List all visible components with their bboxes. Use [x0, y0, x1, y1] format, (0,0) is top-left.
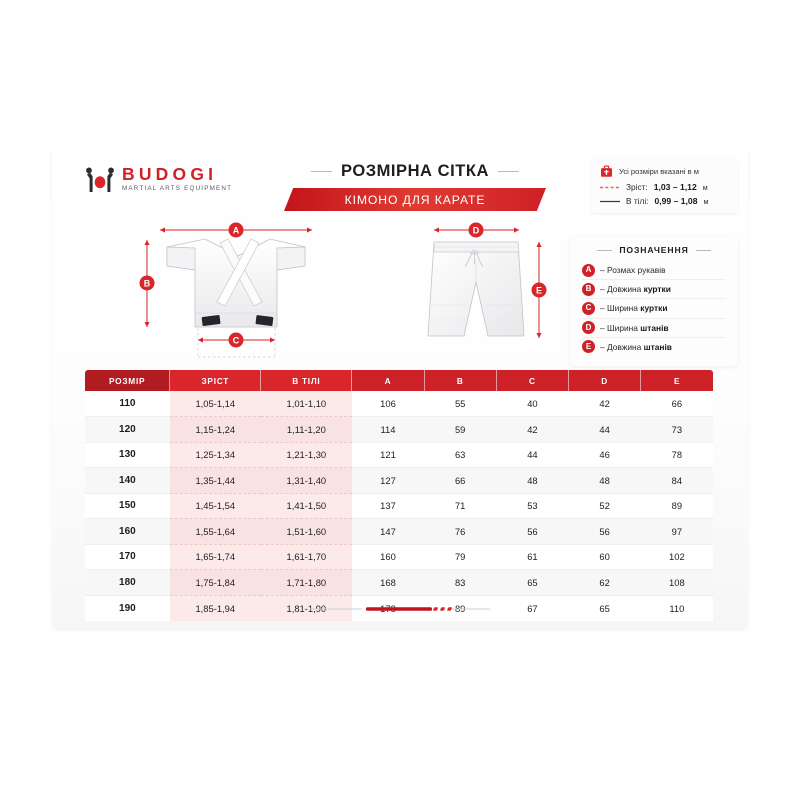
table-row[interactable]: 1501,45-1,541,41-1,5013771535289: [85, 493, 713, 519]
cell-c: 40: [496, 391, 568, 417]
legend-badge-c: C: [582, 302, 595, 315]
cell-в-тілі: 1,71-1,80: [261, 570, 352, 596]
size-table-wrapper: РОЗМІРЗРІСТВ ТІЛІABCDE 1101,05-1,141,01-…: [85, 370, 713, 621]
cell-c: 67: [496, 595, 568, 621]
cell-розмір: 190: [85, 595, 170, 621]
info-label-body: В тілі:: [626, 196, 648, 206]
marker-C-label: C: [233, 335, 240, 345]
info-value-height: 1,03 – 1,12: [654, 182, 697, 192]
cell-зріст: 1,25-1,34: [170, 442, 261, 468]
legend-label-b: – Довжина куртки: [600, 284, 671, 294]
table-row[interactable]: 1801,75-1,841,71-1,80168836562108: [85, 570, 713, 596]
cell-e: 89: [641, 493, 713, 519]
cell-розмір: 130: [85, 442, 170, 468]
cell-d: 65: [569, 595, 641, 621]
karate-jacket-diagram: A B C: [120, 220, 350, 360]
dashed-line-icon: [600, 184, 620, 191]
cell-c: 61: [496, 544, 568, 570]
cell-e: 78: [641, 442, 713, 468]
cell-c: 53: [496, 493, 568, 519]
cell-d: 48: [569, 468, 641, 494]
cell-в-тілі: 1,41-1,50: [261, 493, 352, 519]
info-note-text: Усі розміри вказані в м: [619, 167, 699, 176]
jacket-shape: [167, 239, 305, 327]
legend-item-b: B– Довжина куртки: [582, 279, 726, 298]
gear-bag-icon: [600, 165, 613, 178]
legend-label-e: – Довжина штанів: [600, 342, 672, 352]
cell-a: 168: [352, 570, 424, 596]
table-row[interactable]: 1701,65-1,741,61-1,70160796160102: [85, 544, 713, 570]
legend-item-a: A– Розмах рукавів: [582, 261, 726, 279]
cell-a: 127: [352, 468, 424, 494]
legend-label-c: – Ширина куртки: [600, 303, 667, 313]
marker-B-label: B: [144, 278, 151, 288]
title-block: РОЗМІРНА СІТКА КІМОНО ДЛЯ КАРАТЕ: [284, 162, 546, 211]
cell-зріст: 1,55-1,64: [170, 519, 261, 545]
cell-a: 137: [352, 493, 424, 519]
cell-розмір: 180: [85, 570, 170, 596]
cell-e: 102: [641, 544, 713, 570]
info-unit-body: м: [704, 197, 709, 206]
cell-d: 56: [569, 519, 641, 545]
legend-item-list: A– Розмах рукавівB– Довжина курткиC– Шир…: [582, 261, 726, 356]
brand-name: BUDOGI: [122, 165, 232, 183]
brand-logo: BUDOGI MARTIAL ARTS EQUIPMENT: [85, 165, 232, 193]
legend-title: ПОЗНАЧЕННЯ: [619, 245, 688, 255]
col-header-d: D: [569, 370, 641, 391]
title-dash-right: [498, 171, 519, 172]
table-row[interactable]: 1201,15-1,241,11-1,2011459424473: [85, 417, 713, 443]
col-header-a: A: [352, 370, 424, 391]
cell-a: 114: [352, 417, 424, 443]
cell-b: 79: [424, 544, 496, 570]
cell-d: 46: [569, 442, 641, 468]
legend-item-d: D– Ширина штанів: [582, 318, 726, 337]
cell-b: 63: [424, 442, 496, 468]
subtitle-banner: КІМОНО ДЛЯ КАРАТЕ: [284, 188, 546, 211]
info-note-row: Усі розміри вказані в м: [600, 165, 732, 178]
cell-b: 83: [424, 570, 496, 596]
cell-d: 60: [569, 544, 641, 570]
cell-a: 160: [352, 544, 424, 570]
table-row[interactable]: 1601,55-1,641,51-1,6014776565697: [85, 519, 713, 545]
table-row[interactable]: 1401,35-1,441,31-1,4012766484884: [85, 468, 713, 494]
marker-A-label: A: [233, 225, 240, 235]
cell-b: 55: [424, 391, 496, 417]
cell-c: 44: [496, 442, 568, 468]
legend-badge-b: B: [582, 283, 595, 296]
page-title: РОЗМІРНА СІТКА: [341, 162, 489, 181]
cell-d: 42: [569, 391, 641, 417]
cell-e: 73: [641, 417, 713, 443]
cell-в-тілі: 1,21-1,30: [261, 442, 352, 468]
legend-badge-e: E: [582, 340, 595, 353]
cell-a: 121: [352, 442, 424, 468]
cell-e: 66: [641, 391, 713, 417]
table-row[interactable]: 1301,25-1,341,21-1,3012163444678: [85, 442, 713, 468]
col-header-b: B: [424, 370, 496, 391]
cell-c: 65: [496, 570, 568, 596]
footer-ornament-icon: [310, 605, 490, 613]
cell-d: 62: [569, 570, 641, 596]
cell-в-тілі: 1,11-1,20: [261, 417, 352, 443]
legend-badge-d: D: [582, 321, 595, 334]
legend-badge-a: A: [582, 264, 595, 277]
cell-зріст: 1,75-1,84: [170, 570, 261, 596]
size-table-head: РОЗМІРЗРІСТВ ТІЛІABCDE: [85, 370, 713, 391]
info-label-height: Зріст:: [626, 182, 648, 192]
col-header-в-тілі: В ТІЛІ: [261, 370, 352, 391]
cell-розмір: 140: [85, 468, 170, 494]
cell-в-тілі: 1,51-1,60: [261, 519, 352, 545]
cell-a: 106: [352, 391, 424, 417]
table-row[interactable]: 1101,05-1,141,01-1,1010655404266: [85, 391, 713, 417]
info-row-height: Зріст: 1,03 – 1,12 м: [600, 182, 732, 192]
legend-box: ПОЗНАЧЕННЯ A– Розмах рукавівB– Довжина к…: [570, 236, 738, 366]
legend-item-e: E– Довжина штанів: [582, 337, 726, 356]
cell-зріст: 1,05-1,14: [170, 391, 261, 417]
cell-e: 108: [641, 570, 713, 596]
col-header-e: E: [641, 370, 713, 391]
col-header-розмір: РОЗМІР: [85, 370, 170, 391]
cell-c: 56: [496, 519, 568, 545]
info-unit-height: м: [703, 183, 708, 192]
cell-розмір: 120: [85, 417, 170, 443]
size-table-body: 1101,05-1,141,01-1,10106554042661201,15-…: [85, 391, 713, 621]
cell-зріст: 1,35-1,44: [170, 468, 261, 494]
legend-dash-left: [597, 250, 612, 251]
legend-label-a: – Розмах рукавів: [600, 265, 666, 275]
legend-item-c: C– Ширина куртки: [582, 298, 726, 317]
size-chart-card: BUDOGI MARTIAL ARTS EQUIPMENT РОЗМІРНА С…: [52, 148, 748, 629]
cell-b: 59: [424, 417, 496, 443]
page-subtitle: КІМОНО ДЛЯ КАРАТЕ: [345, 193, 486, 207]
title-dash-left: [311, 171, 332, 172]
size-table: РОЗМІРЗРІСТВ ТІЛІABCDE 1101,05-1,141,01-…: [85, 370, 713, 621]
cell-c: 48: [496, 468, 568, 494]
cell-c: 42: [496, 417, 568, 443]
cell-a: 147: [352, 519, 424, 545]
solid-line-icon: [600, 198, 620, 205]
pants-shape: [428, 242, 524, 336]
cell-d: 44: [569, 417, 641, 443]
legend-dash-right: [696, 250, 711, 251]
brand-tagline: MARTIAL ARTS EQUIPMENT: [122, 185, 232, 193]
info-row-body: В тілі: 0,99 – 1,08 м: [600, 196, 732, 206]
cell-розмір: 170: [85, 544, 170, 570]
cell-в-тілі: 1,31-1,40: [261, 468, 352, 494]
col-header-c: C: [496, 370, 568, 391]
cell-розмір: 160: [85, 519, 170, 545]
cell-зріст: 1,15-1,24: [170, 417, 261, 443]
page-title-row: РОЗМІРНА СІТКА: [284, 162, 546, 181]
table-header-row: РОЗМІРЗРІСТВ ТІЛІABCDE: [85, 370, 713, 391]
cell-в-тілі: 1,61-1,70: [261, 544, 352, 570]
cell-розмір: 150: [85, 493, 170, 519]
cell-в-тілі: 1,01-1,10: [261, 391, 352, 417]
units-info-box: Усі розміри вказані в м Зріст: 1,03 – 1,…: [592, 158, 738, 213]
cell-e: 110: [641, 595, 713, 621]
cell-розмір: 110: [85, 391, 170, 417]
cell-зріст: 1,85-1,94: [170, 595, 261, 621]
cell-зріст: 1,65-1,74: [170, 544, 261, 570]
marker-E-label: E: [536, 285, 542, 295]
budogi-fighters-logo-icon: [85, 165, 115, 193]
cell-b: 66: [424, 468, 496, 494]
cell-e: 84: [641, 468, 713, 494]
cell-b: 76: [424, 519, 496, 545]
col-header-зріст: ЗРІСТ: [170, 370, 261, 391]
info-value-body: 0,99 – 1,08: [654, 196, 697, 206]
cell-b: 71: [424, 493, 496, 519]
cell-зріст: 1,45-1,54: [170, 493, 261, 519]
cell-d: 52: [569, 493, 641, 519]
legend-label-d: – Ширина штанів: [600, 323, 669, 333]
karate-pants-diagram: D E: [412, 220, 587, 360]
legend-title-row: ПОЗНАЧЕННЯ: [582, 245, 726, 255]
marker-D-label: D: [473, 225, 480, 235]
cell-e: 97: [641, 519, 713, 545]
